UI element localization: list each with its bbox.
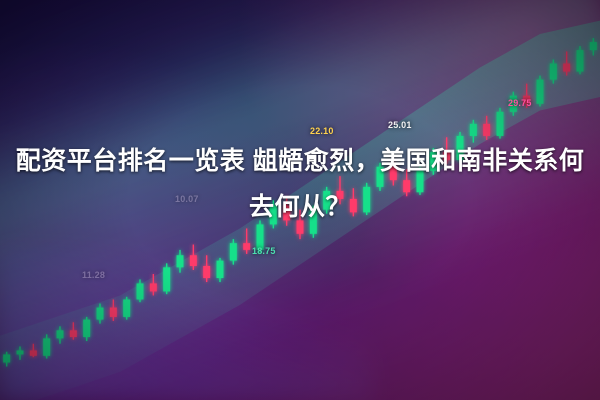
price-label: 18.75 bbox=[252, 246, 276, 256]
headline-overlay: 配资平台排名一览表 龃龉愈烈，美国和南非关系何 去何从？ bbox=[0, 138, 600, 230]
price-label: 29.75 bbox=[508, 98, 532, 108]
screenshot-root: 29.7525.0122.1018.7510.0711.28 配资平台排名一览表… bbox=[0, 0, 600, 400]
price-label: 11.28 bbox=[82, 270, 105, 280]
headline-line-1: 配资平台排名一览表 龃龉愈烈，美国和南非关系何 bbox=[8, 138, 592, 184]
price-label: 22.10 bbox=[310, 126, 334, 136]
headline-line-2: 去何从？ bbox=[8, 184, 592, 230]
price-label: 25.01 bbox=[388, 120, 412, 130]
